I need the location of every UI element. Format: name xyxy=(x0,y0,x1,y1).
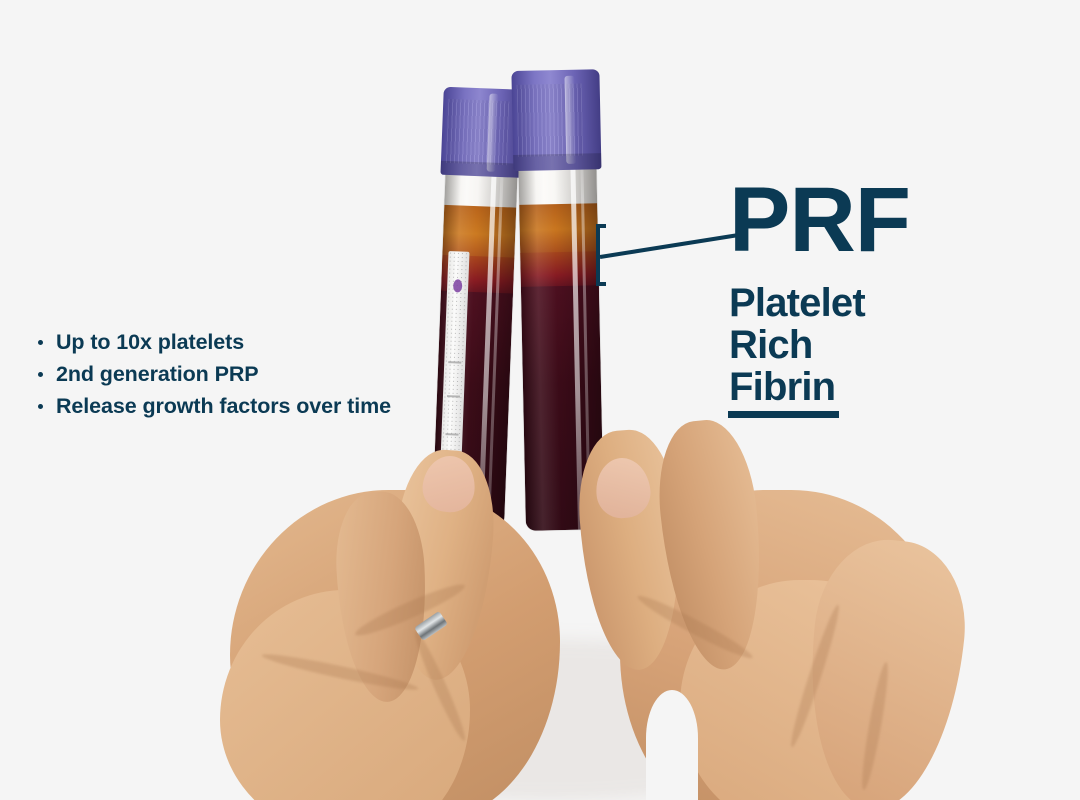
right-tube-cap xyxy=(511,69,601,171)
left-tube-cap-ridges xyxy=(446,99,509,165)
list-item: 2nd generation PRP xyxy=(32,358,502,390)
list-item: Up to 10x platelets xyxy=(32,326,502,358)
list-item: Release growth factors over time xyxy=(32,390,502,422)
title-expansion-line-3: Fibrin xyxy=(729,366,910,418)
prf-infographic: Up to 10x platelets 2nd generation PRP R… xyxy=(0,0,1080,800)
title-expansion-line-1: Platelet xyxy=(729,282,910,324)
benefits-list: Up to 10x platelets 2nd generation PRP R… xyxy=(32,326,502,422)
title-expansion-underlined: Fibrin xyxy=(728,366,839,418)
right-tube-cap-skirt xyxy=(513,153,601,171)
title-expansion: Platelet Rich Fibrin xyxy=(729,282,910,418)
right-tube-cap-highlight xyxy=(564,76,576,164)
page-title: PRF xyxy=(729,176,910,264)
right-hand xyxy=(560,420,960,800)
title-block: PRF Platelet Rich Fibrin xyxy=(729,176,910,418)
title-expansion-line-2: Rich xyxy=(729,324,910,366)
hand-gap-background xyxy=(646,690,698,800)
